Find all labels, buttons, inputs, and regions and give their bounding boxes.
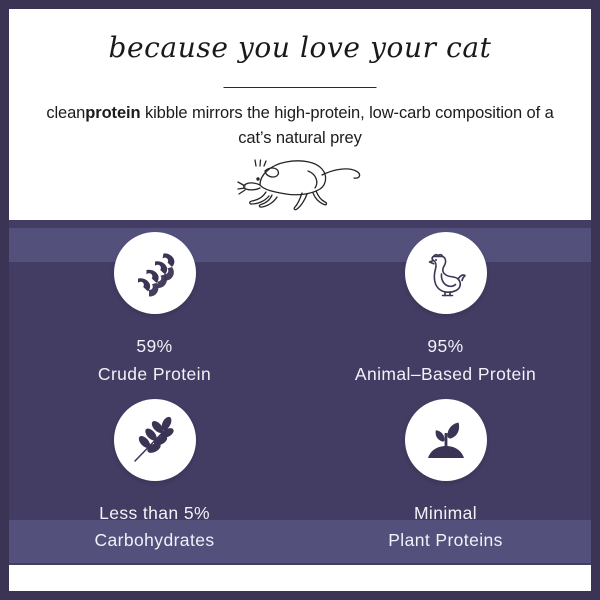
plant-sprout-icon — [420, 414, 472, 466]
bottom-white-strip — [9, 565, 591, 591]
stat-label: Animal–Based Protein — [355, 363, 536, 387]
stat-badge — [114, 399, 196, 481]
stats-grid: 59% Crude Protein — [9, 220, 591, 565]
stat-badge — [405, 399, 487, 481]
stat-carbohydrates: Less than 5% Carbohydrates — [9, 393, 300, 566]
stat-value: 59% — [136, 335, 172, 359]
cleanprotein-infographic: because you love your cat cleanprotein k… — [0, 0, 600, 600]
protein-helix-icon — [129, 247, 181, 299]
stat-value: 95% — [427, 335, 463, 359]
divider — [224, 87, 377, 88]
wheat-grain-icon — [129, 414, 181, 466]
stat-label: Crude Protein — [98, 363, 211, 387]
subcopy: cleanprotein kibble mirrors the high-pro… — [39, 101, 561, 151]
stat-badge — [405, 232, 487, 314]
subcopy-rest: kibble mirrors the high-protein, low-car… — [140, 104, 553, 147]
stat-crude-protein: 59% Crude Protein — [9, 220, 300, 393]
subcopy-prefix: clean — [46, 104, 85, 122]
stat-value: Minimal — [414, 502, 477, 526]
chicken-icon — [420, 247, 472, 299]
page-title: because you love your cat — [9, 31, 591, 64]
stat-label: Plant Proteins — [388, 529, 503, 553]
stat-value: Less than 5% — [99, 502, 210, 526]
stat-badge — [114, 232, 196, 314]
headline-card: because you love your cat cleanprotein k… — [9, 9, 591, 220]
stat-plant-proteins: Minimal Plant Proteins — [300, 393, 591, 566]
stat-animal-based-protein: 95% Animal–Based Protein — [300, 220, 591, 393]
mouse-illustration — [236, 149, 364, 211]
stat-label: Carbohydrates — [95, 529, 215, 553]
subcopy-bold: protein — [85, 104, 140, 122]
